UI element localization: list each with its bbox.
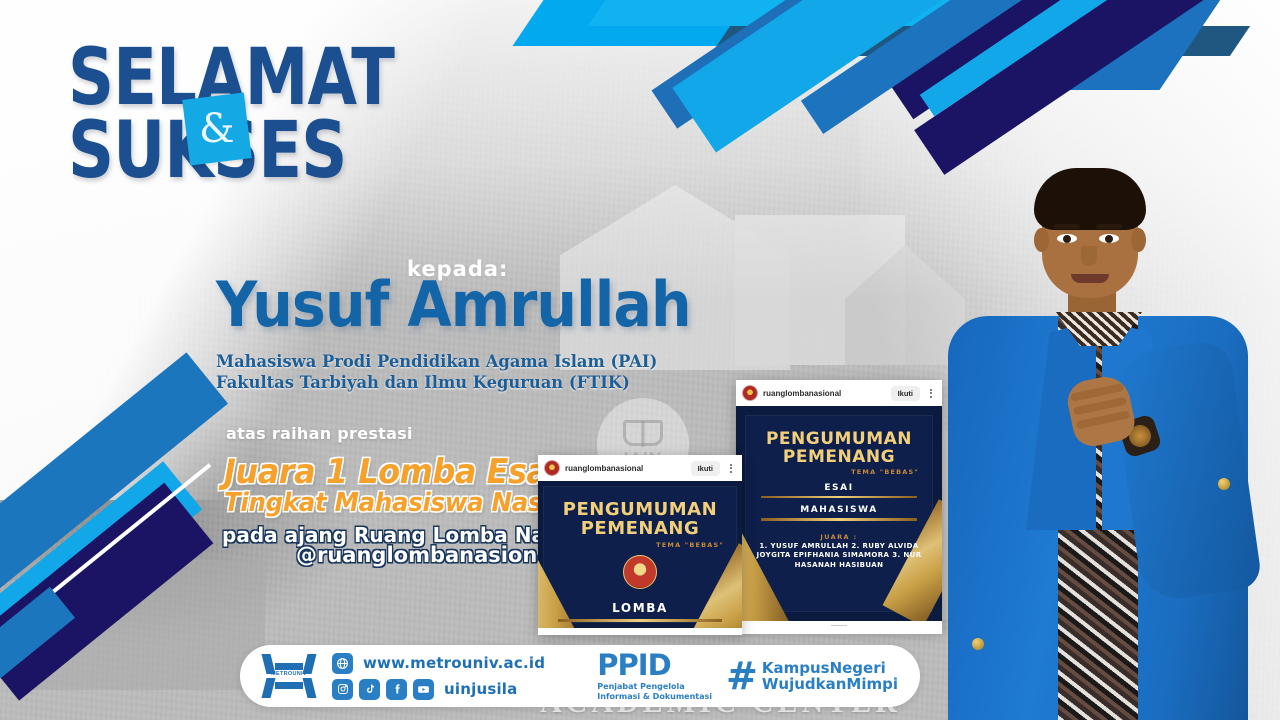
achievement-intro: atas raihan prestasi — [226, 424, 413, 443]
achievement-title: Juara 1 Lomba Esai — [224, 452, 558, 492]
ampersand-badge: & — [182, 92, 252, 165]
prodi-line-2: Fakultas Tarbiyah dan Ilmu Keguruan (FTI… — [216, 373, 657, 394]
announcement-title-back: PENGUMUMAN PEMENANG — [745, 431, 933, 467]
globe-icon[interactable] — [332, 653, 353, 674]
instagram-image-front: PENGUMUMAN PEMENANG TEMA "BEBAS" LOMBA E… — [538, 481, 742, 628]
headline-block: SELAMAT SUKSES — [68, 42, 466, 189]
announcement-title-line2: PEMENANG — [544, 520, 736, 539]
recipient-program: Mahasiswa Prodi Pendidikan Agama Islam (… — [216, 352, 676, 393]
ppid-block: PPID Penjabat Pengelola Informasi & Doku… — [597, 651, 898, 702]
instagram-username: ruanglombanasional — [763, 389, 886, 398]
announcement-tema-back: TEMA "BEBAS" — [745, 468, 933, 476]
social-handle[interactable]: uinjusila — [444, 680, 517, 698]
campaign-hashtag: # KampusNegeri WujudkanMimpi — [726, 660, 898, 693]
footer-bar: METROUNIV www.metrouniv.ac.id — [240, 645, 920, 707]
ppid-logo: PPID Penjabat Pengelola Informasi & Doku… — [597, 651, 712, 702]
nose — [1081, 246, 1097, 266]
contact-rows: www.metrouniv.ac.id — [332, 653, 545, 700]
announcement-row1-back: ESAI — [745, 483, 933, 493]
prodi-line-1: Mahasiswa Prodi Pendidikan Agama Islam (… — [216, 352, 657, 373]
hashtag-line1: KampusNegeri — [762, 660, 898, 677]
eyebrow-right — [1096, 224, 1122, 229]
instagram-post-back[interactable]: ruanglombanasional Ikuti PENGUMUMAN PEME… — [736, 380, 942, 630]
instagram-header-front: ruanglombanasional Ikuti — [538, 455, 742, 481]
tiktok-icon[interactable] — [359, 679, 380, 700]
poster-canvas: ACADEMIC CENTER IAIN SELAMAT SUKSES & ke… — [0, 0, 1280, 720]
ppid-expansion: Penjabat Pengelola Informasi & Dokumenta… — [597, 682, 712, 702]
organization-seal-icon — [623, 555, 657, 589]
instagram-post-front[interactable]: ruanglombanasional Ikuti PENGUMUMAN PEME… — [538, 455, 742, 635]
facebook-icon[interactable] — [386, 679, 407, 700]
winners-list: 1. YUSUF AMRULLAH 2. RUBY ALVIDA JOYGITA… — [745, 542, 933, 570]
metrouniv-logo-icon: METROUNIV — [262, 654, 316, 698]
gold-rule-1-front — [558, 619, 722, 622]
instagram-username: ruanglombanasional — [565, 464, 686, 473]
profile-avatar-icon — [544, 460, 560, 476]
ppid-acronym: PPID — [597, 651, 712, 680]
instagram-image-back: PENGUMUMAN PEMENANG TEMA "BEBAS" ESAI MA… — [736, 406, 942, 621]
gold-rule-2-back — [761, 518, 917, 521]
profile-avatar-icon — [742, 385, 758, 401]
eye-left — [1057, 234, 1077, 243]
ppid-sub-line1: Penjabat Pengelola — [597, 682, 712, 692]
hash-symbol-icon: # — [726, 661, 758, 691]
ppid-sub-line2: Informasi & Dokumentasi — [597, 692, 712, 702]
eye-right — [1099, 234, 1119, 243]
eyebrow-left — [1054, 224, 1080, 229]
website-row: www.metrouniv.ac.id — [332, 653, 545, 674]
hashtag-line2: WujudkanMimpi — [762, 676, 898, 693]
blazer-button-front — [972, 638, 984, 650]
follow-button[interactable]: Ikuti — [691, 461, 720, 476]
three-dots-icon[interactable] — [725, 464, 736, 473]
ear-right — [1131, 228, 1146, 252]
hashtag-text: KampusNegeri WujudkanMimpi — [762, 660, 898, 693]
recipient-name: Yusuf Amrullah — [216, 268, 691, 341]
website-url[interactable]: www.metrouniv.ac.id — [363, 654, 545, 672]
follow-button[interactable]: Ikuti — [891, 386, 920, 401]
instagram-footer-back — [736, 625, 942, 634]
instagram-header-back: ruanglombanasional Ikuti — [736, 380, 942, 406]
achievement-handle: @ruanglombanasional — [296, 543, 559, 567]
winners-label: JUARA : — [745, 533, 933, 541]
open-book-icon — [623, 420, 663, 446]
social-row: uinjusila — [332, 679, 545, 700]
student-photo — [930, 150, 1280, 720]
announcement-title-line2: PEMENANG — [745, 449, 933, 467]
announcement-row1-front: LOMBA — [544, 601, 736, 615]
blazer-button-sleeve — [1218, 478, 1230, 490]
mouth — [1071, 274, 1109, 283]
ear-left — [1034, 228, 1049, 252]
gold-rule-1-back — [761, 496, 917, 499]
announcement-row2-back: MAHASISWA — [745, 505, 933, 515]
announcement-title-front: PENGUMUMAN PEMENANG — [544, 501, 736, 539]
announcement-tema-front: TEMA "BEBAS" — [544, 541, 736, 549]
instagram-icon[interactable] — [332, 679, 353, 700]
ampersand-glyph: & — [199, 106, 235, 152]
metrouniv-logo-text: METROUNIV — [262, 671, 316, 677]
hair — [1034, 168, 1146, 230]
youtube-icon[interactable] — [413, 679, 434, 700]
